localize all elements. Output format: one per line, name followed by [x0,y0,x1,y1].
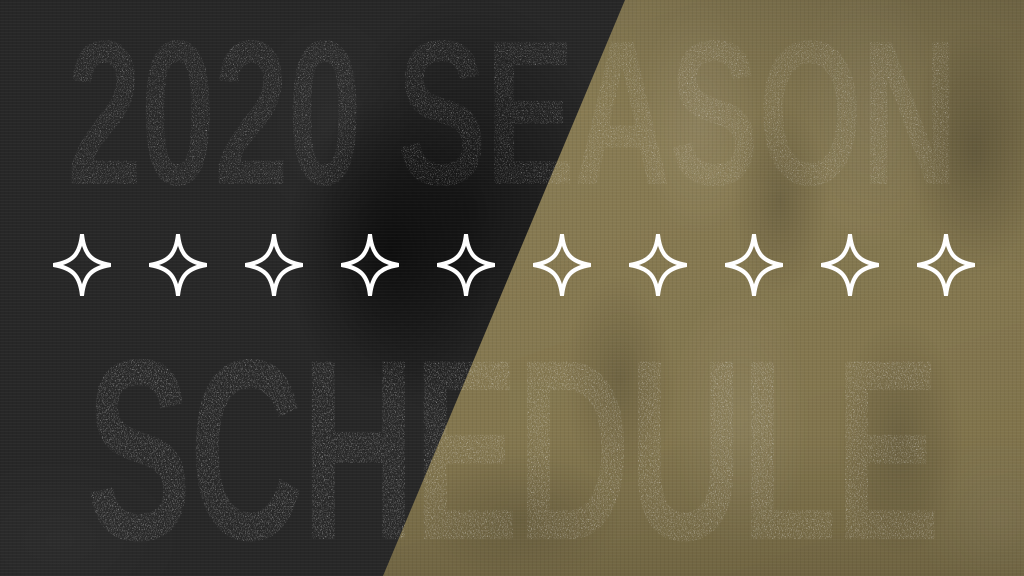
four-point-star-icon [245,234,303,296]
schedule-title-card: 2020 SEASON SCHEDULE [0,0,1024,576]
four-point-star-icon [821,234,879,296]
four-point-star-icon [149,234,207,296]
four-point-star-icon [533,234,591,296]
four-point-star-icon [629,234,687,296]
four-point-star-icon [917,234,975,296]
four-point-star-icon [437,234,495,296]
four-point-star-icon [53,234,111,296]
four-point-star-icon [725,234,783,296]
star-divider-row [0,234,1024,298]
four-point-star-icon [341,234,399,296]
